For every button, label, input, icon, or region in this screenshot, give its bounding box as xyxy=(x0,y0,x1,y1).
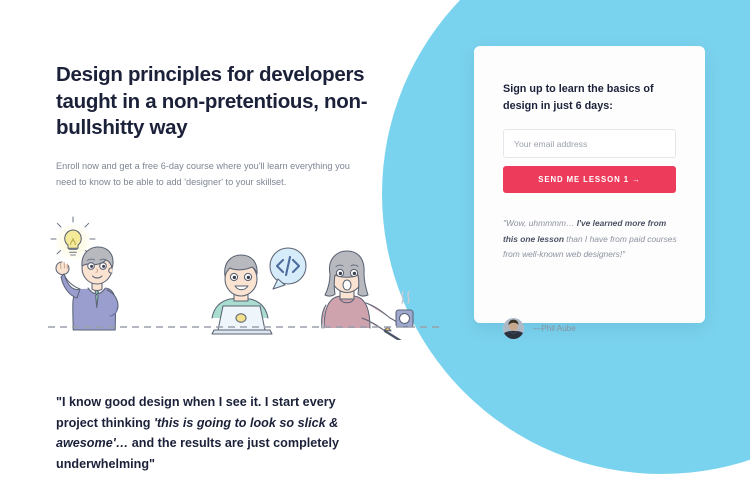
bottom-quote: "I know good design when I see it. I sta… xyxy=(56,392,366,474)
pen-icon xyxy=(384,327,401,340)
developers-illustration xyxy=(40,200,450,340)
testimonial-part1: "Wow, uhmmmm… xyxy=(503,218,577,228)
signup-heading: Sign up to learn the basics of design in… xyxy=(503,81,678,115)
testimonial-author-name: —Phil Aube xyxy=(533,324,576,333)
hero-left-column: Design principles for developers taught … xyxy=(0,0,450,479)
signup-card: Sign up to learn the basics of design in… xyxy=(474,46,705,323)
figure-idea-man xyxy=(56,247,118,330)
code-speech-bubble-icon xyxy=(270,248,306,289)
figure-laptop-person xyxy=(212,255,272,334)
page-title: Design principles for developers taught … xyxy=(56,62,386,142)
coffee-cup-icon xyxy=(396,292,413,327)
landing-page: Design principles for developers taught … xyxy=(0,0,750,479)
testimonial-text: "Wow, uhmmmm… I've learned more from thi… xyxy=(503,216,680,263)
hero-subtext: Enroll now and get a free 6-day course w… xyxy=(56,158,371,190)
avatar xyxy=(503,318,524,339)
send-me-lesson-button[interactable]: SEND ME LESSON 1 → xyxy=(503,166,676,193)
email-field[interactable] xyxy=(503,129,676,158)
testimonial-author-row: —Phil Aube xyxy=(503,318,576,339)
